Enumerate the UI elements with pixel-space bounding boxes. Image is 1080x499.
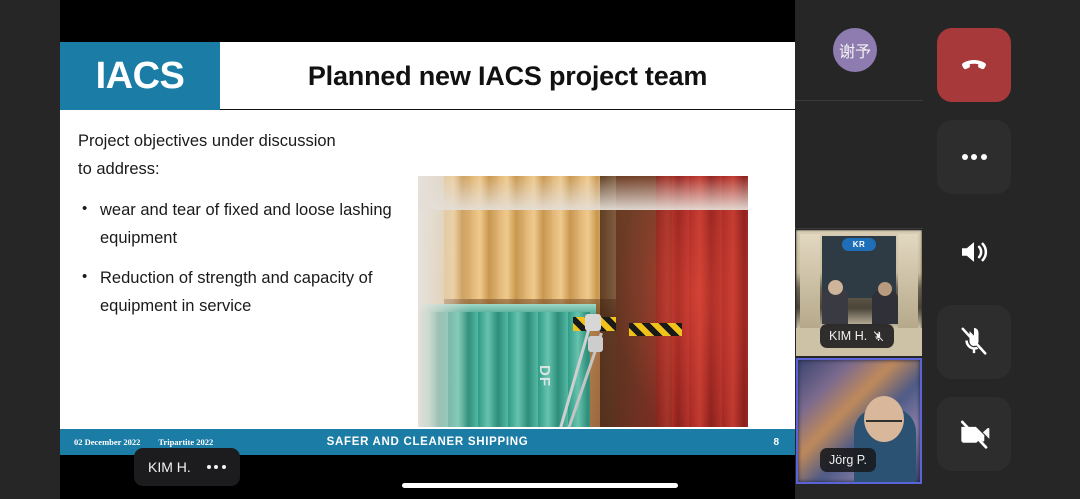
- avatar-initials: 谢予: [839, 38, 871, 62]
- slide-page-number: 8: [773, 437, 779, 448]
- page-title: Planned new IACS project team: [308, 61, 707, 92]
- self-view-name: KIM H.: [148, 459, 191, 475]
- shared-screen-stage[interactable]: IACS Planned new IACS project team Proje…: [60, 0, 795, 499]
- speaker-on-icon: [956, 234, 992, 270]
- mic-off-icon: [956, 324, 992, 360]
- self-view-label[interactable]: KIM H.: [134, 448, 240, 486]
- container-lashing-photo: DF: [418, 176, 748, 438]
- avatar: 谢予: [833, 28, 877, 72]
- video-call-app: IACS Planned new IACS project team Proje…: [0, 0, 1080, 499]
- iacs-logo: IACS: [60, 42, 220, 110]
- slide-lead-line-1: Project objectives under discussion: [78, 128, 428, 156]
- phone-hangup-icon: [957, 48, 991, 82]
- slide-header: IACS Planned new IACS project team: [60, 42, 795, 110]
- ellipsis-icon[interactable]: [207, 465, 226, 469]
- slide-text-column: Project objectives under discussion to a…: [78, 128, 428, 332]
- mic-off-icon: [872, 330, 885, 343]
- slide-lead-line-2: to address:: [78, 156, 428, 184]
- kr-logo-sign: KR: [842, 238, 876, 251]
- participant-tile-3[interactable]: KR KIM H.: [796, 230, 922, 356]
- end-call-button[interactable]: [937, 28, 1011, 102]
- participant-tile-4[interactable]: Jörg P.: [796, 358, 922, 484]
- participant-name: KIM H.: [829, 329, 867, 343]
- slide-title-box: Planned new IACS project team: [220, 42, 795, 110]
- participant-tile-1[interactable]: 谢予: [795, 0, 923, 100]
- camera-button[interactable]: [937, 397, 1011, 471]
- video-off-icon: [955, 415, 993, 453]
- slide-bullet-list: wear and tear of fixed and loose lashing…: [78, 197, 428, 320]
- participant-name-badge: KIM H.: [820, 324, 894, 348]
- rail-divider: [795, 228, 923, 229]
- more-options-button[interactable]: [937, 120, 1011, 194]
- list-item: Reduction of strength and capacity of eq…: [78, 265, 428, 320]
- speaker-button[interactable]: [937, 215, 1011, 289]
- iacs-logo-text: IACS: [96, 57, 185, 95]
- participant-name-badge: Jörg P.: [820, 448, 876, 472]
- slide-body: Project objectives under discussion to a…: [60, 110, 795, 442]
- participant-name: Jörg P.: [829, 453, 867, 467]
- home-indicator[interactable]: [402, 483, 678, 488]
- participant-tile-2[interactable]: JP Jacek P.: [795, 100, 923, 228]
- ellipsis-icon: [962, 154, 987, 160]
- call-controls: [923, 0, 1080, 499]
- slide-footer-tagline: SAFER AND CLEANER SHIPPING: [60, 436, 795, 448]
- list-item: wear and tear of fixed and loose lashing…: [78, 197, 428, 252]
- presentation-slide: IACS Planned new IACS project team Proje…: [60, 42, 795, 455]
- container-stencil-text: DF: [536, 365, 553, 387]
- microphone-button[interactable]: [937, 305, 1011, 379]
